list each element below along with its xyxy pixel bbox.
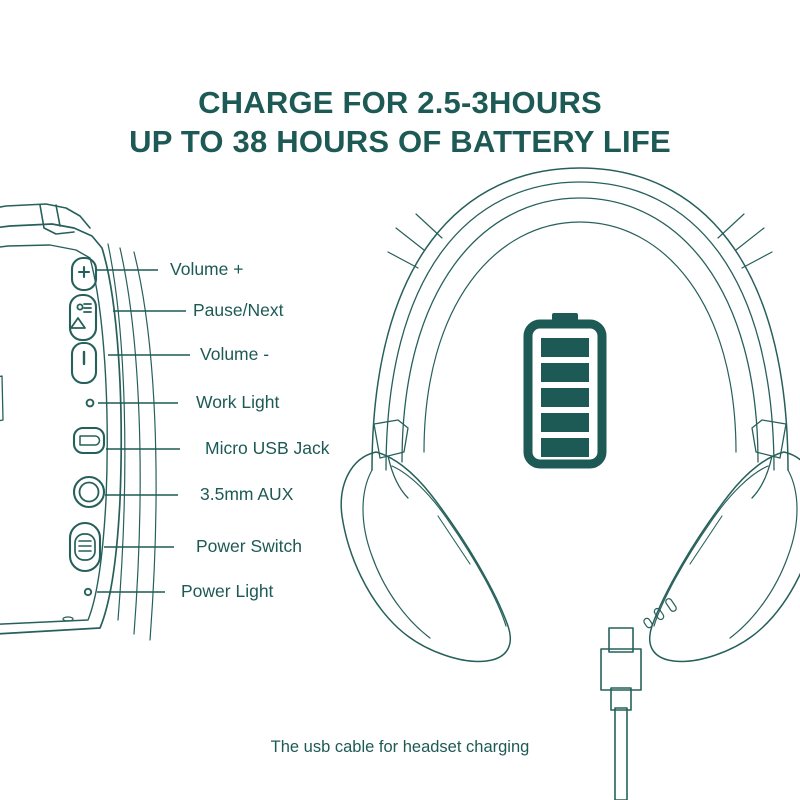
product-line-art — [0, 0, 800, 800]
callout-label-power-light: Power Light — [181, 581, 273, 602]
callout-label-pause-next: Pause/Next — [193, 300, 283, 321]
cable-caption: The usb cable for headset charging — [0, 738, 800, 757]
callout-label-work-light: Work Light — [196, 392, 279, 413]
callout-label-power-switch: Power Switch — [196, 536, 302, 557]
pause-next-button — [70, 295, 96, 340]
usb-charging-cable — [601, 628, 641, 800]
power-light-led — [85, 589, 91, 595]
callout-label-aux-jack: 3.5mm AUX — [200, 484, 293, 505]
micro-usb-port — [74, 428, 104, 453]
volume-up-button — [72, 258, 96, 290]
callout-label-volume-up: Volume + — [170, 259, 243, 280]
battery-icon — [528, 313, 602, 464]
callout-label-micro-usb-jack: Micro USB Jack — [205, 438, 329, 459]
power-switch-control — [70, 523, 100, 571]
work-light-led — [87, 400, 94, 407]
volume-down-button — [72, 343, 96, 383]
infographic-canvas: CHARGE FOR 2.5-3HOURS UP TO 38 HOURS OF … — [0, 0, 800, 800]
callout-label-volume-down: Volume - — [200, 344, 269, 365]
callout-leader-lines — [96, 270, 190, 592]
aux-jack-port — [74, 477, 104, 507]
